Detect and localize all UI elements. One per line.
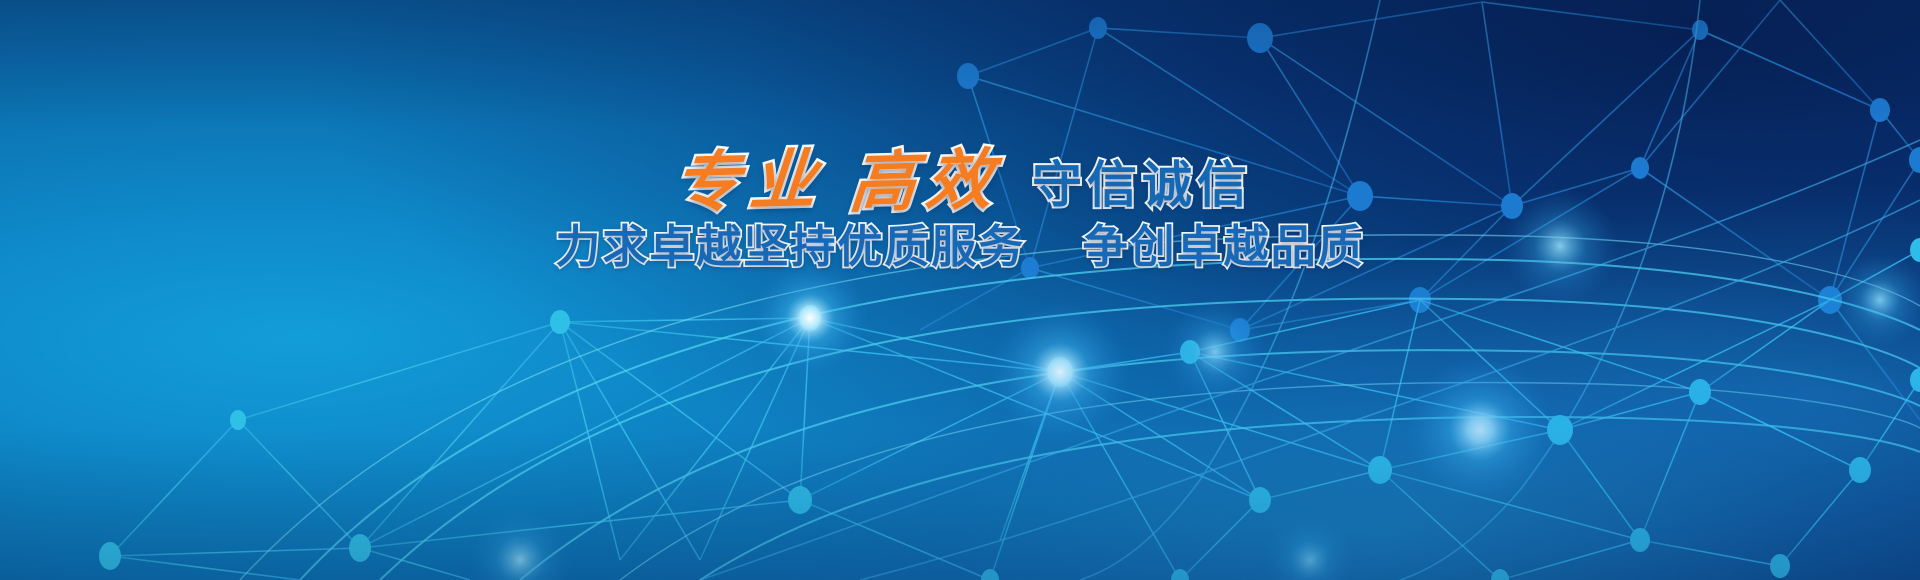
hero-banner: 专业 高效 守信诚信 力求卓越坚持优质服务 争创卓越品质 <box>0 0 1920 580</box>
background-vignette <box>0 0 1920 580</box>
